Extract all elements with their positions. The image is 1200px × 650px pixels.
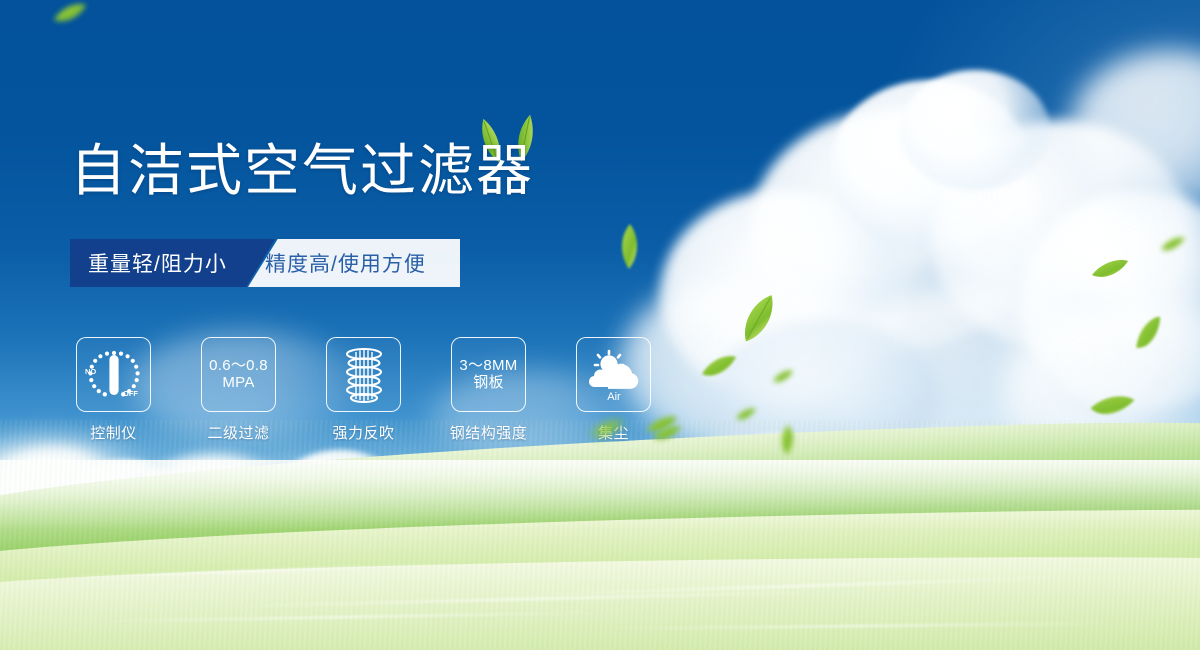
gauge-icon: NO OFF xyxy=(83,346,145,404)
feature-item-control[interactable]: NO OFF 控制仪 xyxy=(76,337,151,443)
steel-thickness: 3～8MM xyxy=(459,357,517,374)
steel-material: 钢板 xyxy=(459,375,517,392)
steel-plate-text-icon: 3～8MM 钢板 xyxy=(459,358,517,392)
feature-label: 钢结构强度 xyxy=(450,422,528,443)
feature-item-dust[interactable]: Air 集尘 xyxy=(576,337,651,443)
feature-item-filtration[interactable]: 0.6～0.8 MPA 二级过滤 xyxy=(201,337,276,443)
feature-label: 集尘 xyxy=(598,422,629,443)
feature-item-backblow[interactable]: 强力反吹 xyxy=(326,337,401,443)
cloud-air-icon: Air xyxy=(583,347,645,403)
feature-label: 控制仪 xyxy=(90,422,137,443)
tagline-right-text: 精度高/使用方便 xyxy=(265,239,426,287)
grass-ground xyxy=(0,420,1200,650)
feature-list: NO OFF 控制仪 0.6～0.8 MPA 二级过滤 xyxy=(76,337,651,443)
cloud-air-label: Air xyxy=(607,391,621,403)
pressure-text-icon: 0.6～0.8 MPA xyxy=(209,358,268,392)
tagline-left-text: 重量轻/阻力小 xyxy=(88,239,227,287)
pressure-unit: MPA xyxy=(209,375,268,392)
feature-icon-box: 3～8MM 钢板 xyxy=(451,337,526,412)
feature-label: 二级过滤 xyxy=(207,422,269,443)
gauge-label-off: OFF xyxy=(123,389,138,398)
filter-cartridge-icon xyxy=(339,347,389,403)
feature-icon-box: Air xyxy=(576,337,651,412)
feature-label: 强力反吹 xyxy=(332,422,394,443)
tagline-banner: 重量轻/阻力小 精度高/使用方便 xyxy=(70,239,460,287)
feature-icon-box: 0.6～0.8 MPA xyxy=(201,337,276,412)
pressure-value: 0.6～0.8 xyxy=(209,357,268,374)
feature-item-steel[interactable]: 3～8MM 钢板 钢结构强度 xyxy=(451,337,526,443)
page-title: 自洁式空气过滤器 xyxy=(70,143,534,199)
feature-icon-box xyxy=(326,337,401,412)
gauge-label-no: NO xyxy=(85,367,96,376)
hero-banner: 自洁式空气过滤器 重量轻/阻力小 精度高/使用方便 xyxy=(0,0,1200,650)
feature-icon-box: NO OFF xyxy=(76,337,151,412)
